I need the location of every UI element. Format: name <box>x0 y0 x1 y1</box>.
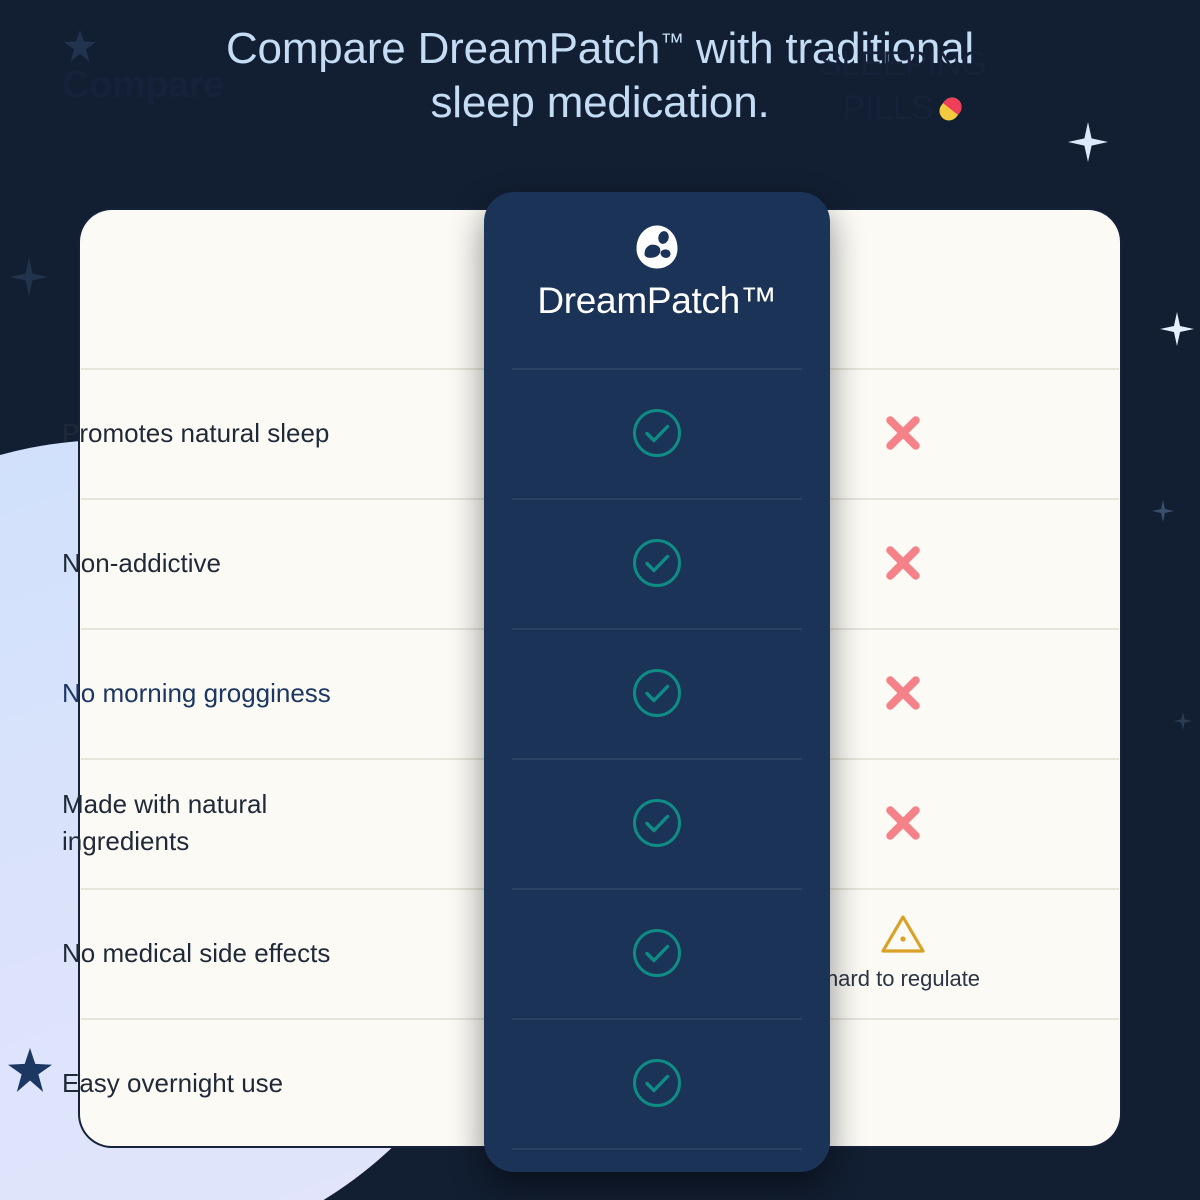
feature-label: No morning grogginess <box>62 675 392 712</box>
featured-row-divider <box>512 1018 802 1020</box>
dreampatch-column-header: DreamPatch™ <box>484 224 830 322</box>
check-circle-icon <box>484 1057 830 1114</box>
featured-row-divider <box>512 628 802 630</box>
featured-row-divider <box>512 888 802 890</box>
title-line-1-pre: Compare DreamPatch <box>226 24 660 73</box>
featured-row-divider <box>512 758 802 760</box>
compare-column-header: Compare <box>62 64 224 107</box>
title-line-2: sleep medication. <box>430 78 769 127</box>
pill-emoji-icon <box>938 96 964 122</box>
feature-label: Made with natural ingredients <box>62 786 392 860</box>
featured-row-divider <box>512 498 802 500</box>
sparkle-four-point-icon <box>1152 500 1174 522</box>
dreampatch-logo-icon <box>635 224 679 270</box>
check-circle-icon <box>484 667 830 724</box>
check-circle-icon <box>484 407 830 464</box>
check-circle-icon <box>484 797 830 854</box>
sparkle-four-point-icon <box>10 258 48 296</box>
pills-header-line-1: SLEEPING <box>819 45 987 83</box>
sparkle-four-point-icon <box>1160 312 1194 346</box>
dreampatch-column-label: DreamPatch™ <box>484 280 830 322</box>
trademark-symbol: ™ <box>660 29 684 56</box>
feature-label: Easy overnight use <box>62 1065 392 1102</box>
featured-row-divider <box>512 1148 802 1150</box>
check-circle-icon <box>484 927 830 984</box>
sparkle-four-point-icon <box>1174 712 1192 730</box>
sleeping-pills-column-header: SLEEPING PILLS <box>762 42 1044 130</box>
check-circle-icon <box>484 537 830 594</box>
pills-header-line-2: PILLS <box>842 89 933 127</box>
feature-label: No medical side effects <box>62 935 392 972</box>
featured-row-divider <box>512 368 802 370</box>
feature-label: Promotes natural sleep <box>62 415 392 452</box>
feature-label: Non-addictive <box>62 545 392 582</box>
